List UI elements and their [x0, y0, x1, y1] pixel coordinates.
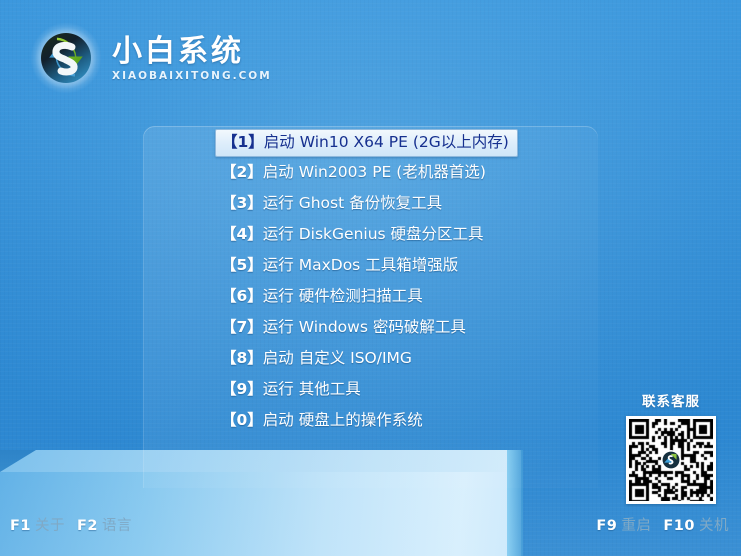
brand-name-en: XIAOBAIXITONG.COM [112, 70, 272, 82]
brand-name-cn: 小白系统 [112, 36, 272, 68]
menu-item-index: 【3】 [221, 194, 263, 212]
menu-item-1[interactable]: 【1】启动 Win10 X64 PE (2G以上内存) [215, 129, 518, 157]
footer-right-label-f10[interactable]: 关机 [699, 518, 729, 534]
menu-item-index: 【5】 [221, 256, 263, 274]
menu-item-label: 运行 MaxDos 工具箱增强版 [263, 256, 458, 274]
menu-item-index: 【8】 [221, 349, 263, 367]
brand-logo: 小白系统 XIAOBAIXITONG.COM [30, 22, 272, 94]
footer-keys-right: F9重启F10关机 [596, 514, 729, 535]
customer-support-block: 联系客服 [623, 390, 719, 504]
menu-item-8[interactable]: 【8】启动 自定义 ISO/IMG [215, 343, 598, 374]
menu-item-label: 启动 硬盘上的操作系统 [263, 411, 423, 429]
menu-item-label: 运行 Windows 密码破解工具 [263, 318, 466, 336]
menu-item-label: 启动 Win2003 PE (老机器首选) [263, 163, 486, 181]
menu-item-6[interactable]: 【6】运行 硬件检测扫描工具 [215, 281, 598, 312]
menu-item-index: 【0】 [221, 411, 263, 429]
menu-item-label: 运行 Ghost 备份恢复工具 [263, 194, 442, 212]
qr-center-logo-icon [661, 450, 681, 470]
support-title: 联系客服 [623, 390, 719, 410]
footer-left-label-f2[interactable]: 语言 [102, 518, 132, 534]
footer-left-key-f2[interactable]: F2 [77, 518, 98, 534]
boot-menu-list[interactable]: 【1】启动 Win10 X64 PE (2G以上内存)【2】启动 Win2003… [143, 126, 598, 436]
footer-right-label-f9[interactable]: 重启 [621, 518, 651, 534]
footer-left-key-f1[interactable]: F1 [10, 518, 31, 534]
footer-right-key-f9[interactable]: F9 [596, 518, 617, 534]
menu-item-5[interactable]: 【5】运行 MaxDos 工具箱增强版 [215, 250, 598, 281]
boot-menu-panel: 【1】启动 Win10 X64 PE (2G以上内存)【2】启动 Win2003… [143, 126, 598, 488]
pe-boot-menu-screen: 小白系统 XIAOBAIXITONG.COM 【1】启动 Win10 X64 P… [0, 0, 741, 556]
qr-code-icon [626, 416, 716, 504]
menu-item-3[interactable]: 【3】运行 Ghost 备份恢复工具 [215, 188, 598, 219]
footer-keys-left: F1关于F2语言 [10, 514, 132, 535]
menu-item-index: 【9】 [221, 380, 263, 398]
menu-item-4[interactable]: 【4】运行 DiskGenius 硬盘分区工具 [215, 219, 598, 250]
menu-item-index: 【4】 [221, 225, 263, 243]
menu-item-index: 【2】 [221, 163, 263, 181]
menu-item-index: 【7】 [221, 318, 263, 336]
footer-left-label-f1[interactable]: 关于 [35, 518, 65, 534]
menu-item-index: 【1】 [222, 133, 264, 151]
menu-item-label: 运行 DiskGenius 硬盘分区工具 [263, 225, 484, 243]
menu-item-2[interactable]: 【2】启动 Win2003 PE (老机器首选) [215, 157, 598, 188]
menu-item-index: 【6】 [221, 287, 263, 305]
menu-item-label: 启动 Win10 X64 PE (2G以上内存) [264, 133, 509, 151]
menu-item-7[interactable]: 【7】运行 Windows 密码破解工具 [215, 312, 598, 343]
menu-item-10[interactable]: 【0】启动 硬盘上的操作系统 [215, 405, 598, 436]
menu-item-label: 运行 硬件检测扫描工具 [263, 287, 423, 305]
menu-item-row-wrapper: 【1】启动 Win10 X64 PE (2G以上内存) [215, 126, 598, 157]
circular-refresh-logo-icon [30, 22, 102, 94]
brand-text: 小白系统 XIAOBAIXITONG.COM [112, 36, 272, 83]
menu-item-label: 运行 其他工具 [263, 380, 361, 398]
menu-item-label: 启动 自定义 ISO/IMG [263, 349, 412, 367]
footer-right-key-f10[interactable]: F10 [663, 518, 695, 534]
menu-item-9[interactable]: 【9】运行 其他工具 [215, 374, 598, 405]
